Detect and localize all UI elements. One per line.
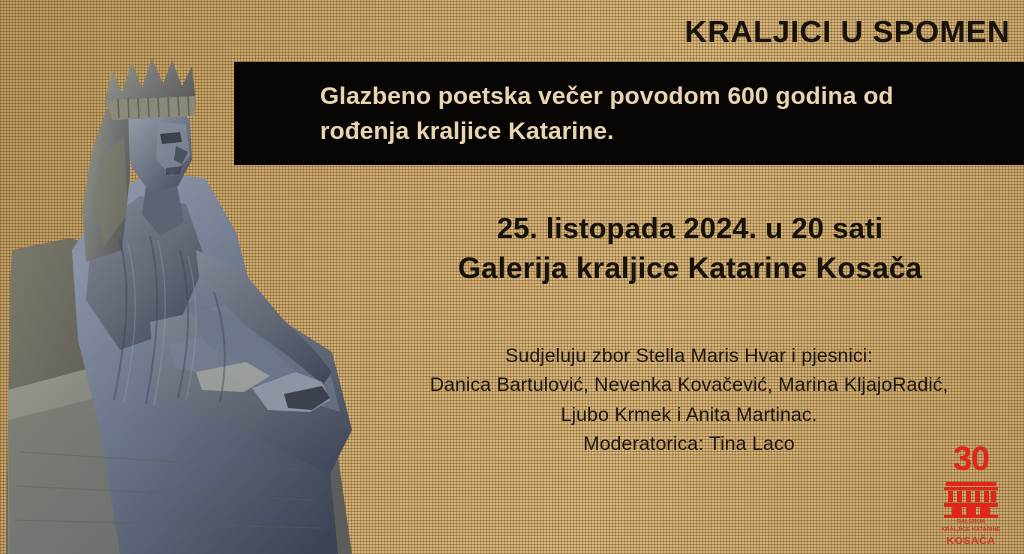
participants-line-4: Moderatorica: Tina Laco (378, 430, 1000, 459)
poster-headline: KRALJICI U SPOMEN (685, 16, 1010, 49)
banner-line-1: Glazbeno poetska večer povodom 600 godin… (320, 80, 994, 115)
logo-caption: GALERIJA KRALJICE KATARINE KOSAČA (932, 519, 1010, 548)
gallery-logo: 30 GALERIJA KRALJICE KATARINE (932, 442, 1010, 548)
gallery-building-icon (942, 478, 1000, 518)
participants-line-3: Ljubo Krmek i Anita Martinac. (378, 401, 1000, 430)
banner-line-2: rođenja kraljice Katarine. (320, 115, 994, 150)
poster-canvas: KRALJICI U SPOMEN Glazbeno poetska večer… (0, 0, 1024, 554)
logo-caption-line-1: GALERIJA (957, 519, 986, 525)
subtitle-banner: Glazbeno poetska večer povodom 600 godin… (234, 62, 1024, 165)
participants-block: Sudjeluju zbor Stella Maris Hvar i pjesn… (378, 342, 1000, 459)
anniversary-number: 30 (932, 442, 1010, 476)
event-details: 25. listopada 2024. u 20 sati Galerija k… (380, 210, 1000, 288)
event-venue: Galerija kraljice Katarine Kosača (380, 249, 1000, 288)
event-date: 25. listopada 2024. u 20 sati (380, 210, 1000, 249)
logo-caption-line-2: KRALJICE KATARINE (942, 527, 1001, 533)
logo-caption-main: KOSAČA (932, 534, 1010, 548)
participants-line-2: Danica Bartulović, Nevenka Kovačević, Ma… (378, 371, 1000, 400)
participants-line-1: Sudjeluju zbor Stella Maris Hvar i pjesn… (378, 342, 1000, 371)
